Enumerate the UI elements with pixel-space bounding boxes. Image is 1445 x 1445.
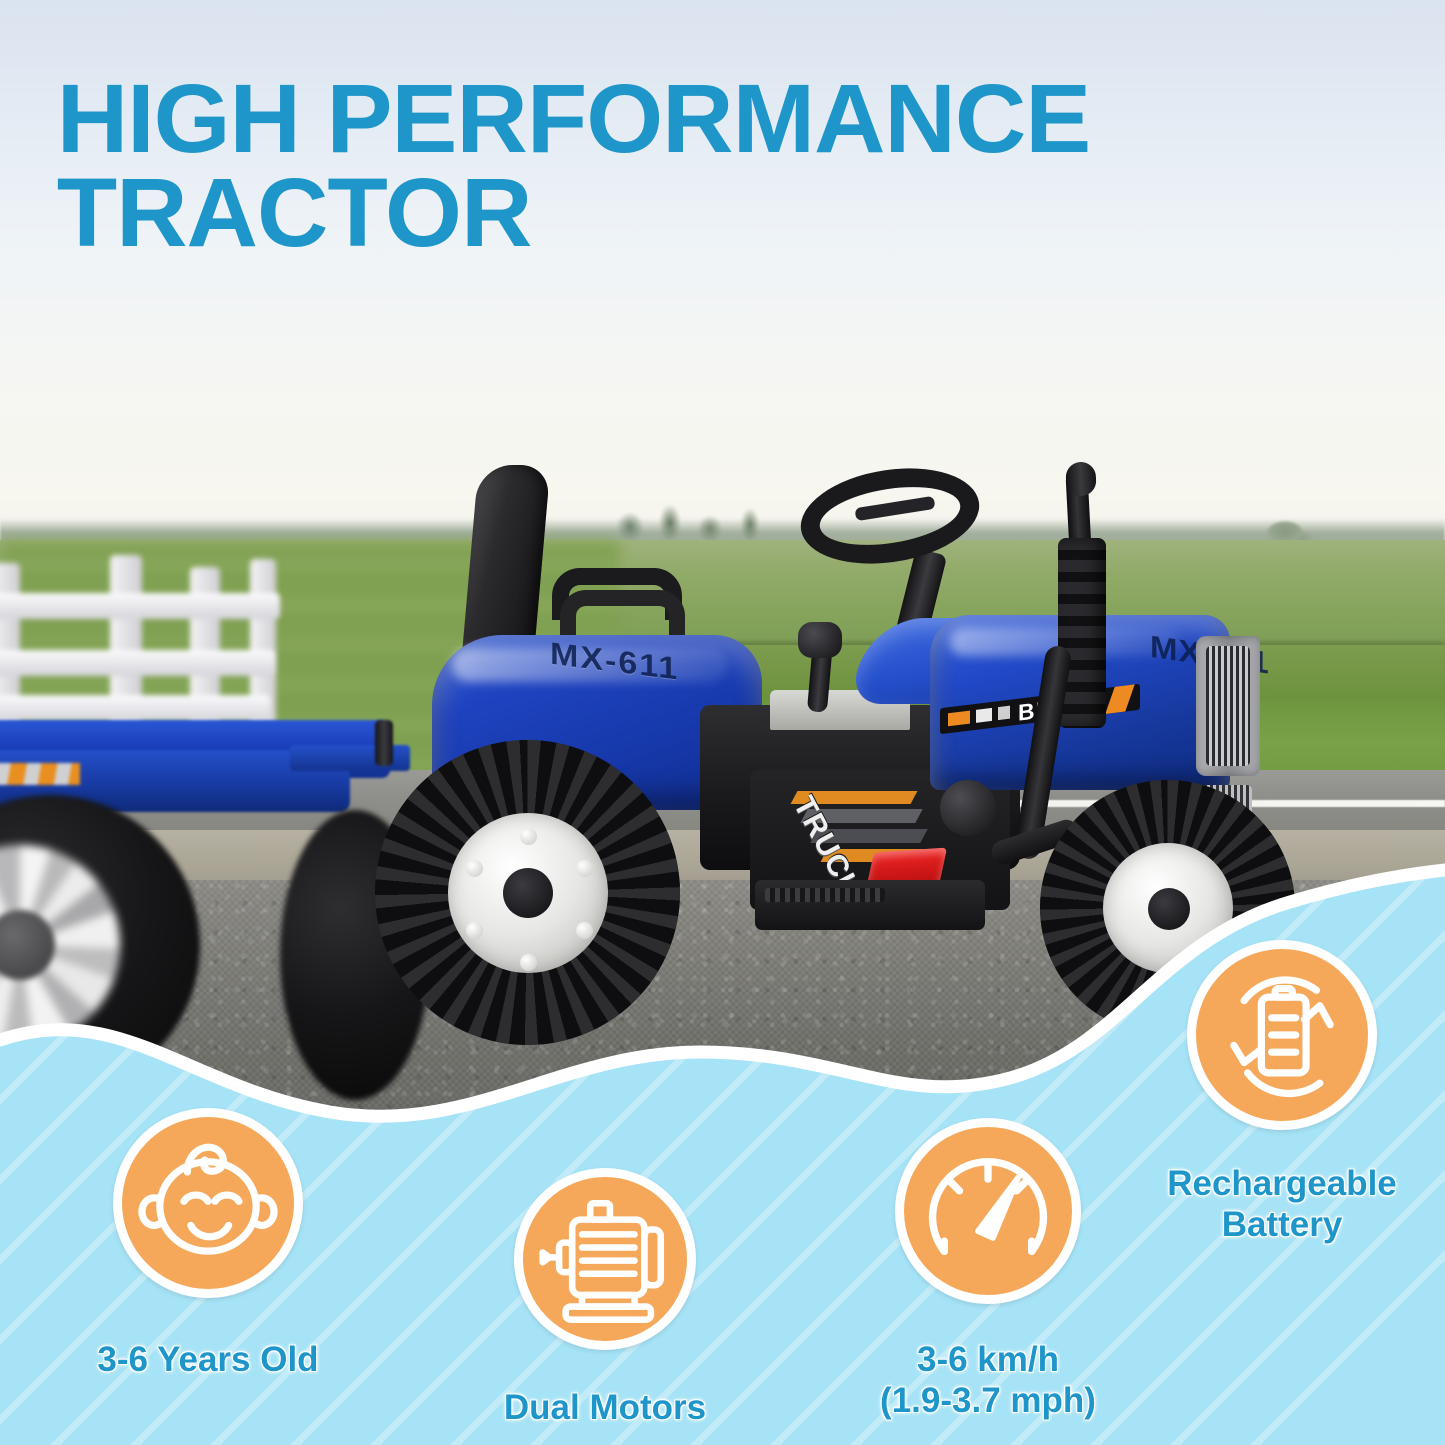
electric-motor-icon xyxy=(514,1168,696,1350)
battery-line-1: Rechargeable xyxy=(1167,1164,1397,1203)
steering-wheel xyxy=(794,456,986,575)
speed-line-2: (1.9-3.7 mph) xyxy=(880,1381,1096,1420)
feature-label-motors: Dual Motors xyxy=(455,1388,755,1429)
baby-face-icon xyxy=(113,1108,303,1298)
feature-item-battery[interactable]: Rechargeable Battery xyxy=(1132,940,1432,1245)
title-line-1: HIGH PERFORMANCE xyxy=(57,64,1091,173)
speedometer-icon xyxy=(895,1118,1081,1304)
page-title: HIGH PERFORMANCE TRACTOR xyxy=(57,72,1210,260)
front-hub xyxy=(940,780,996,836)
product-banner: MX-611 TRUCK MX-611 BLOW xyxy=(0,0,1445,1445)
feature-item-speed[interactable]: 3-6 km/h (1.9-3.7 mph) xyxy=(838,1118,1138,1421)
feature-label-age: 3-6 Years Old xyxy=(58,1340,358,1381)
grille-slats xyxy=(1206,646,1250,766)
speed-line-1: 3-6 km/h xyxy=(917,1340,1059,1379)
battery-line-2: Battery xyxy=(1222,1205,1343,1244)
exhaust-ribbed-section xyxy=(1058,538,1106,728)
gear-shift-knob xyxy=(798,622,842,658)
feature-item-age[interactable]: 3-6 Years Old xyxy=(58,1108,358,1381)
exhaust-cap xyxy=(1065,461,1097,497)
rechargeable-battery-icon xyxy=(1187,940,1377,1130)
feature-item-motors[interactable]: Dual Motors xyxy=(455,1168,755,1429)
feature-label-speed: 3-6 km/h (1.9-3.7 mph) xyxy=(838,1340,1138,1421)
seat xyxy=(461,465,550,660)
roll-bar xyxy=(560,590,685,640)
feature-label-battery: Rechargeable Battery xyxy=(1132,1164,1432,1245)
title-line-2: TRACTOR xyxy=(57,166,1210,260)
